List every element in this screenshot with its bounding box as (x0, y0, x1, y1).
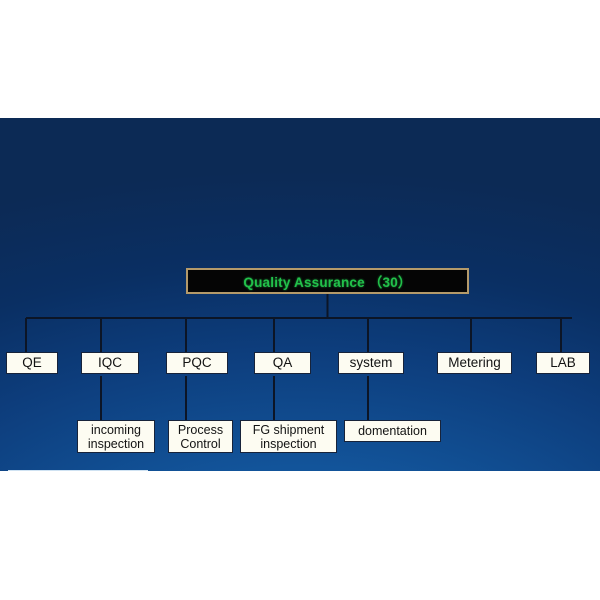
node-iqc[interactable]: IQC (81, 352, 139, 374)
node-process-control[interactable]: Process Control (168, 420, 233, 453)
thumbnail-report-table[interactable] (8, 470, 148, 471)
slide-canvas: Quality Assurance （30） QE IQC PQC QA sys… (0, 118, 600, 471)
root-node-label: Quality Assurance （30） (243, 271, 411, 291)
node-fg-shipment-inspection[interactable]: FG shipment inspection (240, 420, 337, 453)
node-qe[interactable]: QE (6, 352, 58, 374)
node-lab[interactable]: LAB (536, 352, 590, 374)
node-domentation[interactable]: domentation (344, 420, 441, 442)
org-chart-connectors (0, 118, 600, 471)
root-node-quality-assurance[interactable]: Quality Assurance （30） (186, 268, 469, 294)
node-system[interactable]: system (338, 352, 404, 374)
node-metering[interactable]: Metering (437, 352, 512, 374)
screenshot-root: Quality Assurance （30） QE IQC PQC QA sys… (0, 0, 600, 600)
node-pqc[interactable]: PQC (166, 352, 228, 374)
node-qa[interactable]: QA (254, 352, 311, 374)
node-incoming-inspection[interactable]: incoming inspection (77, 420, 155, 453)
